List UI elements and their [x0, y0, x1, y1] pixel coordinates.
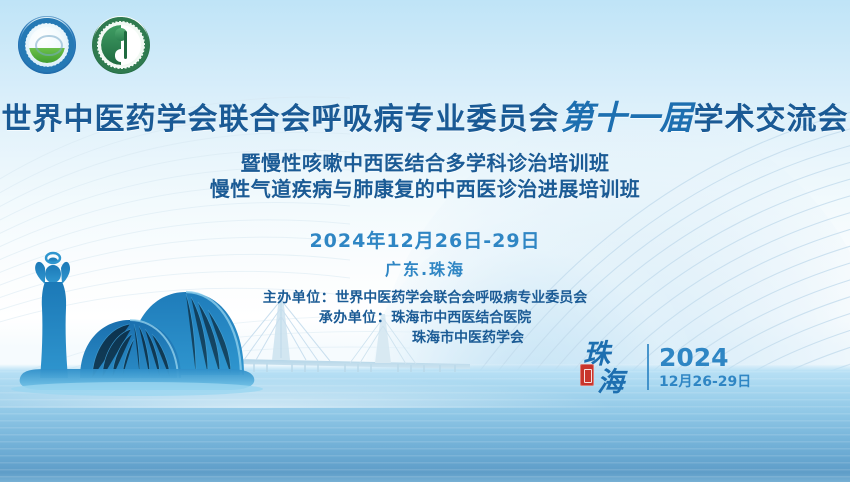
zhuhai-brand-mark: 珠 海 2024 12月26-29日	[575, 336, 751, 398]
brand-dates: 2024 12月26-29日	[659, 344, 751, 391]
title-part-1: 世界中医药学会联合会呼吸病专业委员会	[2, 102, 560, 137]
red-seal-icon	[580, 364, 594, 386]
organizer-row: 承办单位：珠海市中西医结合医院	[0, 308, 850, 328]
world-federation-of-chinese-medicine-societies-logo	[18, 16, 76, 74]
title-calligraphy-ordinal: 第十一届	[560, 98, 694, 137]
poster-subtitle-2: 慢性气道疾病与肺康复的中西医诊治进展培训班	[0, 176, 850, 202]
brand-date-range: 12月26-29日	[659, 374, 751, 390]
poster-subtitle-1: 暨慢性咳嗽中西医结合多学科诊治培训班	[0, 150, 850, 176]
poster-main-title: 世界中医药学会联合会呼吸病专业委员会第十一届学术交流会	[0, 100, 850, 138]
organizer-value: 世界中医药学会联合会呼吸病专业委员会	[335, 290, 587, 306]
asclepius-rod-icon	[124, 31, 127, 60]
organizer-row: 主办单位：世界中医药学会联合会呼吸病专业委员会	[0, 288, 850, 308]
event-date: 2024年12月26日-29日	[0, 226, 850, 253]
globe-icon	[29, 27, 65, 63]
event-city: 广东.珠海	[0, 256, 850, 280]
title-part-2: 学术交流会	[694, 102, 849, 137]
calligraphy-char-hai: 海	[597, 360, 624, 399]
organizer-value: 珠海市中医药学会	[412, 330, 524, 346]
organizer-label: 主办单位：	[263, 290, 336, 306]
chinese-medicine-association-logo	[92, 16, 150, 74]
brand-year: 2024	[659, 344, 751, 373]
organizer-label: 承办单位：	[319, 310, 392, 326]
conference-poster: 世界中医药学会联合会呼吸病专业委员会第十一届学术交流会 暨慢性咳嗽中西医结合多学…	[0, 0, 850, 482]
zhuhai-calligraphy: 珠 海	[575, 336, 637, 398]
brand-divider	[647, 344, 649, 390]
yin-yang-icon	[101, 25, 141, 65]
organizer-value: 珠海市中西医结合医院	[391, 310, 531, 326]
logo-group	[18, 16, 150, 74]
